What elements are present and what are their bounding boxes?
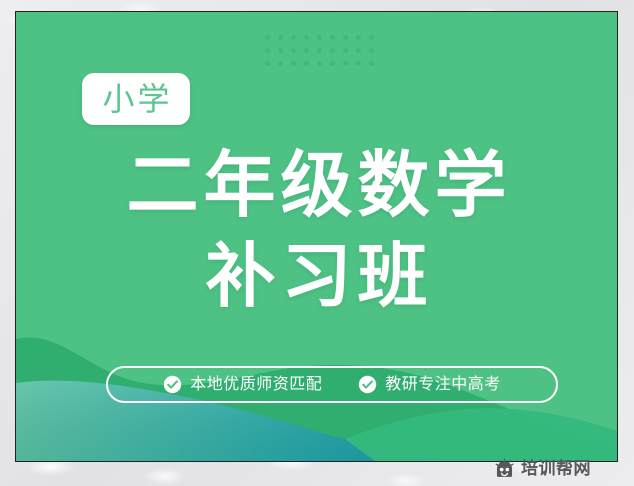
grid-dot — [343, 61, 348, 66]
grid-dot — [356, 61, 361, 66]
grid-dot — [330, 35, 335, 40]
headline-line-2: 补习班 — [16, 232, 617, 320]
grid-dot — [356, 35, 361, 40]
grid-dot — [265, 48, 270, 53]
watermark-label: 培训帮网 — [521, 460, 591, 477]
feature-label-2: 教研专注中高考 — [385, 377, 501, 393]
grid-dot — [330, 61, 335, 66]
poster-headline: 二年级数学 补习班 — [16, 140, 617, 320]
grid-dot — [291, 48, 296, 53]
level-badge-label: 小学 — [99, 83, 172, 115]
wave-accent — [345, 408, 617, 461]
grid-dot — [291, 61, 296, 66]
grid-dot — [330, 48, 335, 53]
grid-dot — [317, 61, 322, 66]
site-watermark: 培训帮网 — [494, 455, 591, 481]
feature-item-1: 本地优质师资匹配 — [163, 375, 322, 394]
feature-bar: 本地优质师资匹配 教研专注中高考 — [106, 366, 558, 403]
grid-dot — [317, 35, 322, 40]
grid-dot — [265, 61, 270, 66]
course-poster-card: 小学 二年级数学 补习班 本地优质师资匹配 教研专注中高考 — [15, 11, 618, 462]
grid-dot — [304, 48, 309, 53]
grid-dot — [278, 48, 283, 53]
level-badge: 小学 — [82, 73, 190, 125]
grid-dot — [304, 61, 309, 66]
dot-grid-decoration — [265, 35, 375, 69]
headline-line-1: 二年级数学 — [16, 140, 617, 232]
grid-dot — [291, 35, 296, 40]
grid-dot — [343, 35, 348, 40]
feature-label-1: 本地优质师资匹配 — [190, 377, 322, 393]
grid-dot — [304, 35, 309, 40]
grid-dot — [369, 35, 374, 40]
check-circle-icon — [358, 375, 377, 394]
grid-dot — [369, 48, 374, 53]
grid-dot — [317, 48, 322, 53]
grid-dot — [356, 48, 361, 53]
grid-dot — [278, 35, 283, 40]
feature-item-2: 教研专注中高考 — [358, 375, 501, 394]
grid-dot — [369, 61, 374, 66]
grid-dot — [265, 35, 270, 40]
sun-face-icon — [494, 458, 515, 479]
grid-dot — [343, 48, 348, 53]
check-circle-icon — [163, 375, 182, 394]
grid-dot — [278, 61, 283, 66]
